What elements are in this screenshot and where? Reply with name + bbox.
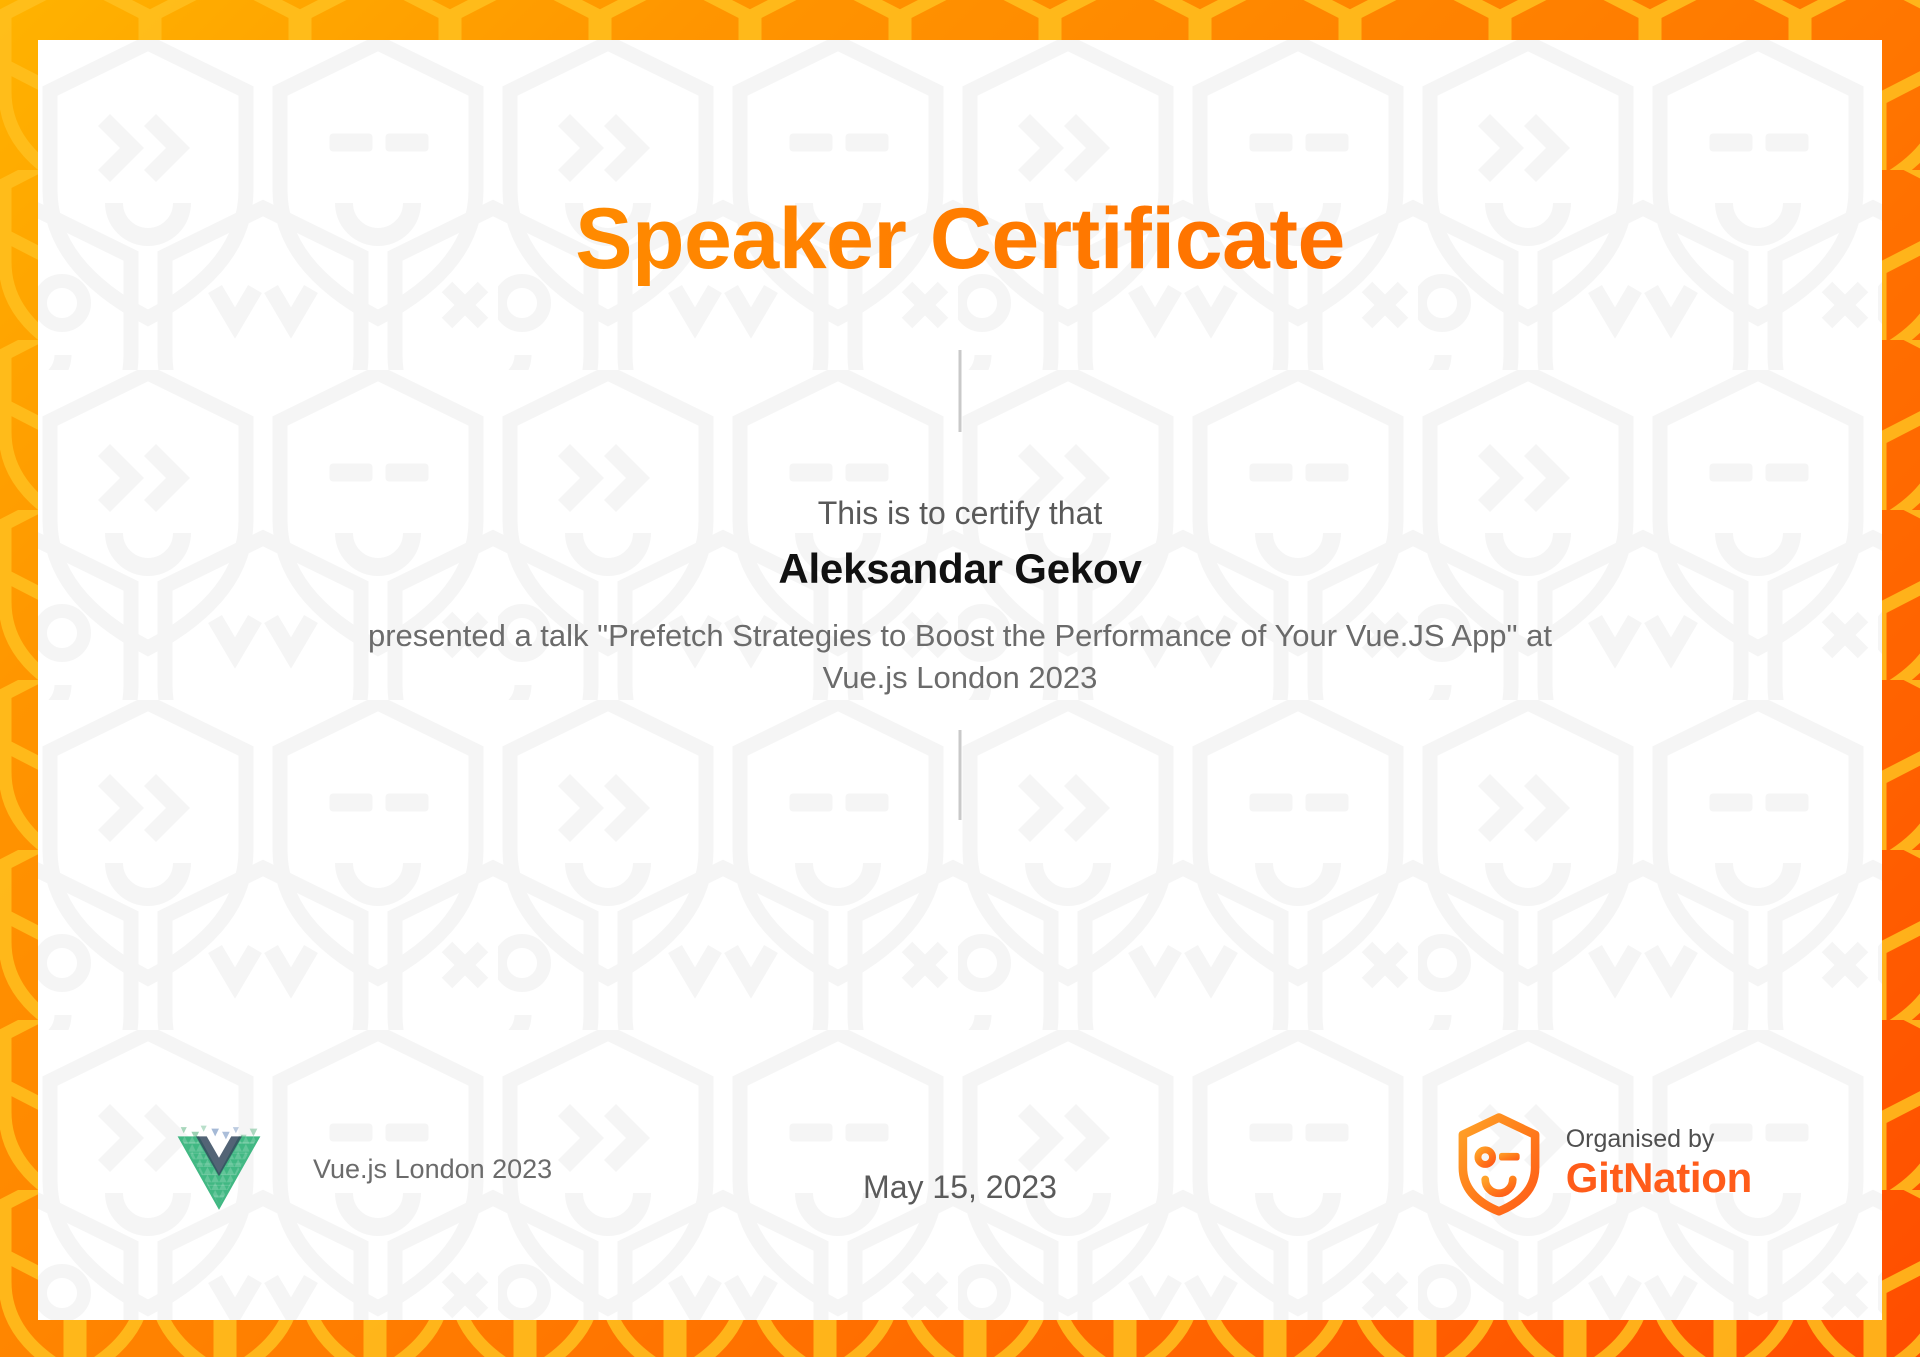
page-title: Speaker Certificate bbox=[38, 190, 1882, 289]
event-block: Vue.js London 2023 bbox=[173, 1102, 552, 1232]
organiser-name: GitNation bbox=[1566, 1154, 1752, 1202]
divider-top bbox=[959, 350, 962, 432]
gitnation-shield-icon bbox=[1456, 1112, 1542, 1216]
event-name-label: Vue.js London 2023 bbox=[313, 1150, 552, 1185]
speaker-certificate: Speaker Certificate This is to certify t… bbox=[0, 0, 1920, 1357]
certificate-card: Speaker Certificate This is to certify t… bbox=[38, 40, 1882, 1320]
certificate-date: May 15, 2023 bbox=[863, 1169, 1057, 1206]
vue-logo-icon bbox=[173, 1121, 265, 1213]
certificate-footer: Vue.js London 2023 May 15, 2023 bbox=[38, 1102, 1882, 1232]
divider-bottom bbox=[959, 730, 962, 820]
recipient-name: Aleksandar Gekov bbox=[38, 545, 1882, 593]
talk-description: presented a talk "Prefetch Strategies to… bbox=[365, 615, 1555, 699]
organised-by-label: Organised by bbox=[1566, 1126, 1752, 1154]
organiser-block: Organised by GitNation bbox=[1456, 1104, 1752, 1224]
organiser-text: Organised by GitNation bbox=[1566, 1126, 1752, 1202]
certify-line: This is to certify that bbox=[38, 495, 1882, 532]
